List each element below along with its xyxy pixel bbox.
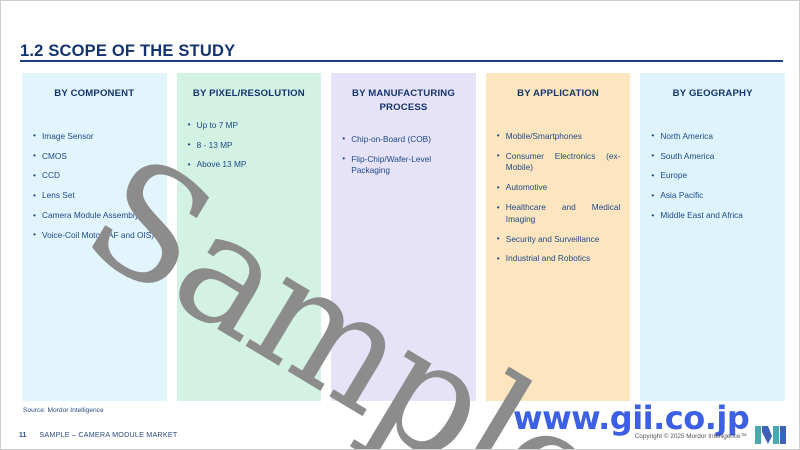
list-item: 8 - 13 MP [187,140,312,152]
list-item: Mobile/Smartphones [496,131,621,143]
slide-footer: 11 SAMPLE – CAMERA MODULE MARKET [19,430,177,439]
list-item: Voice-Coil Motor (AF and OIS) [32,230,157,242]
gii-url-watermark: www.gii.co.jp [513,399,749,437]
panel-title: BY GEOGRAPHY [650,87,775,101]
list-item: Asia Pacific [650,190,775,202]
copyright-notice: Copyright © 2025 Mordor Intelligence™ [635,433,747,440]
panel-title: BY APPLICATION [496,87,621,101]
panel-item-list: Mobile/SmartphonesConsumer Electronics (… [496,131,621,265]
list-item: CMOS [32,151,157,163]
list-item: Camera Module Assembly [32,210,157,222]
list-item: Consumer Electronics (ex-Mobile) [496,151,621,175]
list-item: Above 13 MP [187,159,312,171]
list-item: Up to 7 MP [187,120,312,132]
list-item: CCD [32,170,157,182]
panel-title: BY COMPONENT [32,87,157,101]
page-title: 1.2 SCOPE OF THE STUDY [20,42,235,61]
list-item: Automotive [496,182,621,194]
panel-item-list: Chip-on-Board (COB)Flip-Chip/Wafer-Level… [341,134,466,177]
panel-item-list: Up to 7 MP8 - 13 MPAbove 13 MP [187,120,312,171]
page-number: 11 [19,432,26,439]
list-item: Industrial and Robotics [496,253,621,265]
scope-panel-4: BY APPLICATIONMobile/SmartphonesConsumer… [486,73,631,401]
panel-title: BY PIXEL/RESOLUTION [187,87,312,101]
list-item: South America [650,151,775,163]
panel-title: BY MANUFACTURING PROCESS [341,87,466,115]
list-item: Security and Surveillance [496,234,621,246]
presentation-slide: 1.2 SCOPE OF THE STUDY BY COMPONENTImage… [0,0,800,450]
list-item: Lens Set [32,190,157,202]
list-item: Middle East and Africa [650,210,775,222]
list-item: Europe [650,170,775,182]
scope-panel-1: BY COMPONENTImage SensorCMOSCCDLens SetC… [22,73,167,401]
panel-item-list: North AmericaSouth AmericaEuropeAsia Pac… [650,131,775,222]
mordor-intelligence-logo-icon [755,425,789,445]
list-item: Flip-Chip/Wafer-Level Packaging [341,154,466,178]
list-item: Chip-on-Board (COB) [341,134,466,146]
panel-item-list: Image SensorCMOSCCDLens SetCamera Module… [32,131,157,242]
scope-panel-5: BY GEOGRAPHYNorth AmericaSouth AmericaEu… [640,73,785,401]
list-item: Healthcare and Medical Imaging [496,202,621,226]
scope-panel-2: BY PIXEL/RESOLUTIONUp to 7 MP8 - 13 MPAb… [177,73,322,401]
scope-panel-3: BY MANUFACTURING PROCESSChip-on-Board (C… [331,73,476,401]
scope-panels-container: BY COMPONENTImage SensorCMOSCCDLens SetC… [22,73,785,401]
list-item: Image Sensor [32,131,157,143]
source-note: Source: Mordor Intelligence [23,407,104,414]
title-divider [20,60,783,62]
footer-title: SAMPLE – CAMERA MODULE MARKET [39,430,177,439]
list-item: North America [650,131,775,143]
